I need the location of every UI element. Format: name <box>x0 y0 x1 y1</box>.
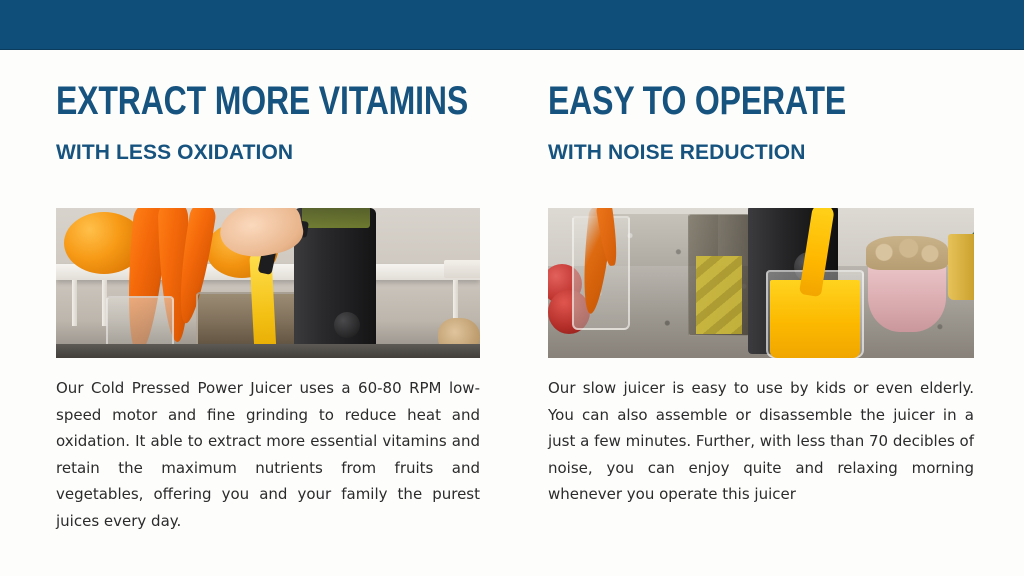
subheadline-right: WITH NOISE REDUCTION <box>548 140 974 166</box>
photo-right-canister-contents <box>696 256 742 334</box>
subheadline-left: WITH LESS OXIDATION <box>56 140 480 166</box>
header-bar <box>0 0 1024 50</box>
photo-right-gold-planter <box>948 234 974 300</box>
feature-column-left: EXTRACT MORE VITAMINS WITH LESS OXIDATIO… <box>56 78 480 166</box>
photo-left-juicer-chute <box>302 208 370 228</box>
photo-right-bowl-contents <box>866 236 948 270</box>
feature-image-right <box>548 208 974 358</box>
body-text-left: Our Cold Pressed Power Juicer uses a 60-… <box>56 375 480 534</box>
body-text-right: Our slow juicer is easy to use by kids o… <box>548 375 974 508</box>
headline-right: EASY TO OPERATE <box>548 78 889 124</box>
photo-left-rack <box>444 260 480 278</box>
photo-left-juicer-knob <box>334 312 360 338</box>
headline-left: EXTRACT MORE VITAMINS <box>56 78 395 124</box>
feature-column-right: EASY TO OPERATE WITH NOISE REDUCTION <box>548 78 974 166</box>
photo-left-counter <box>56 344 480 358</box>
photo-left-shelf-leg <box>72 280 77 326</box>
feature-image-left <box>56 208 480 358</box>
